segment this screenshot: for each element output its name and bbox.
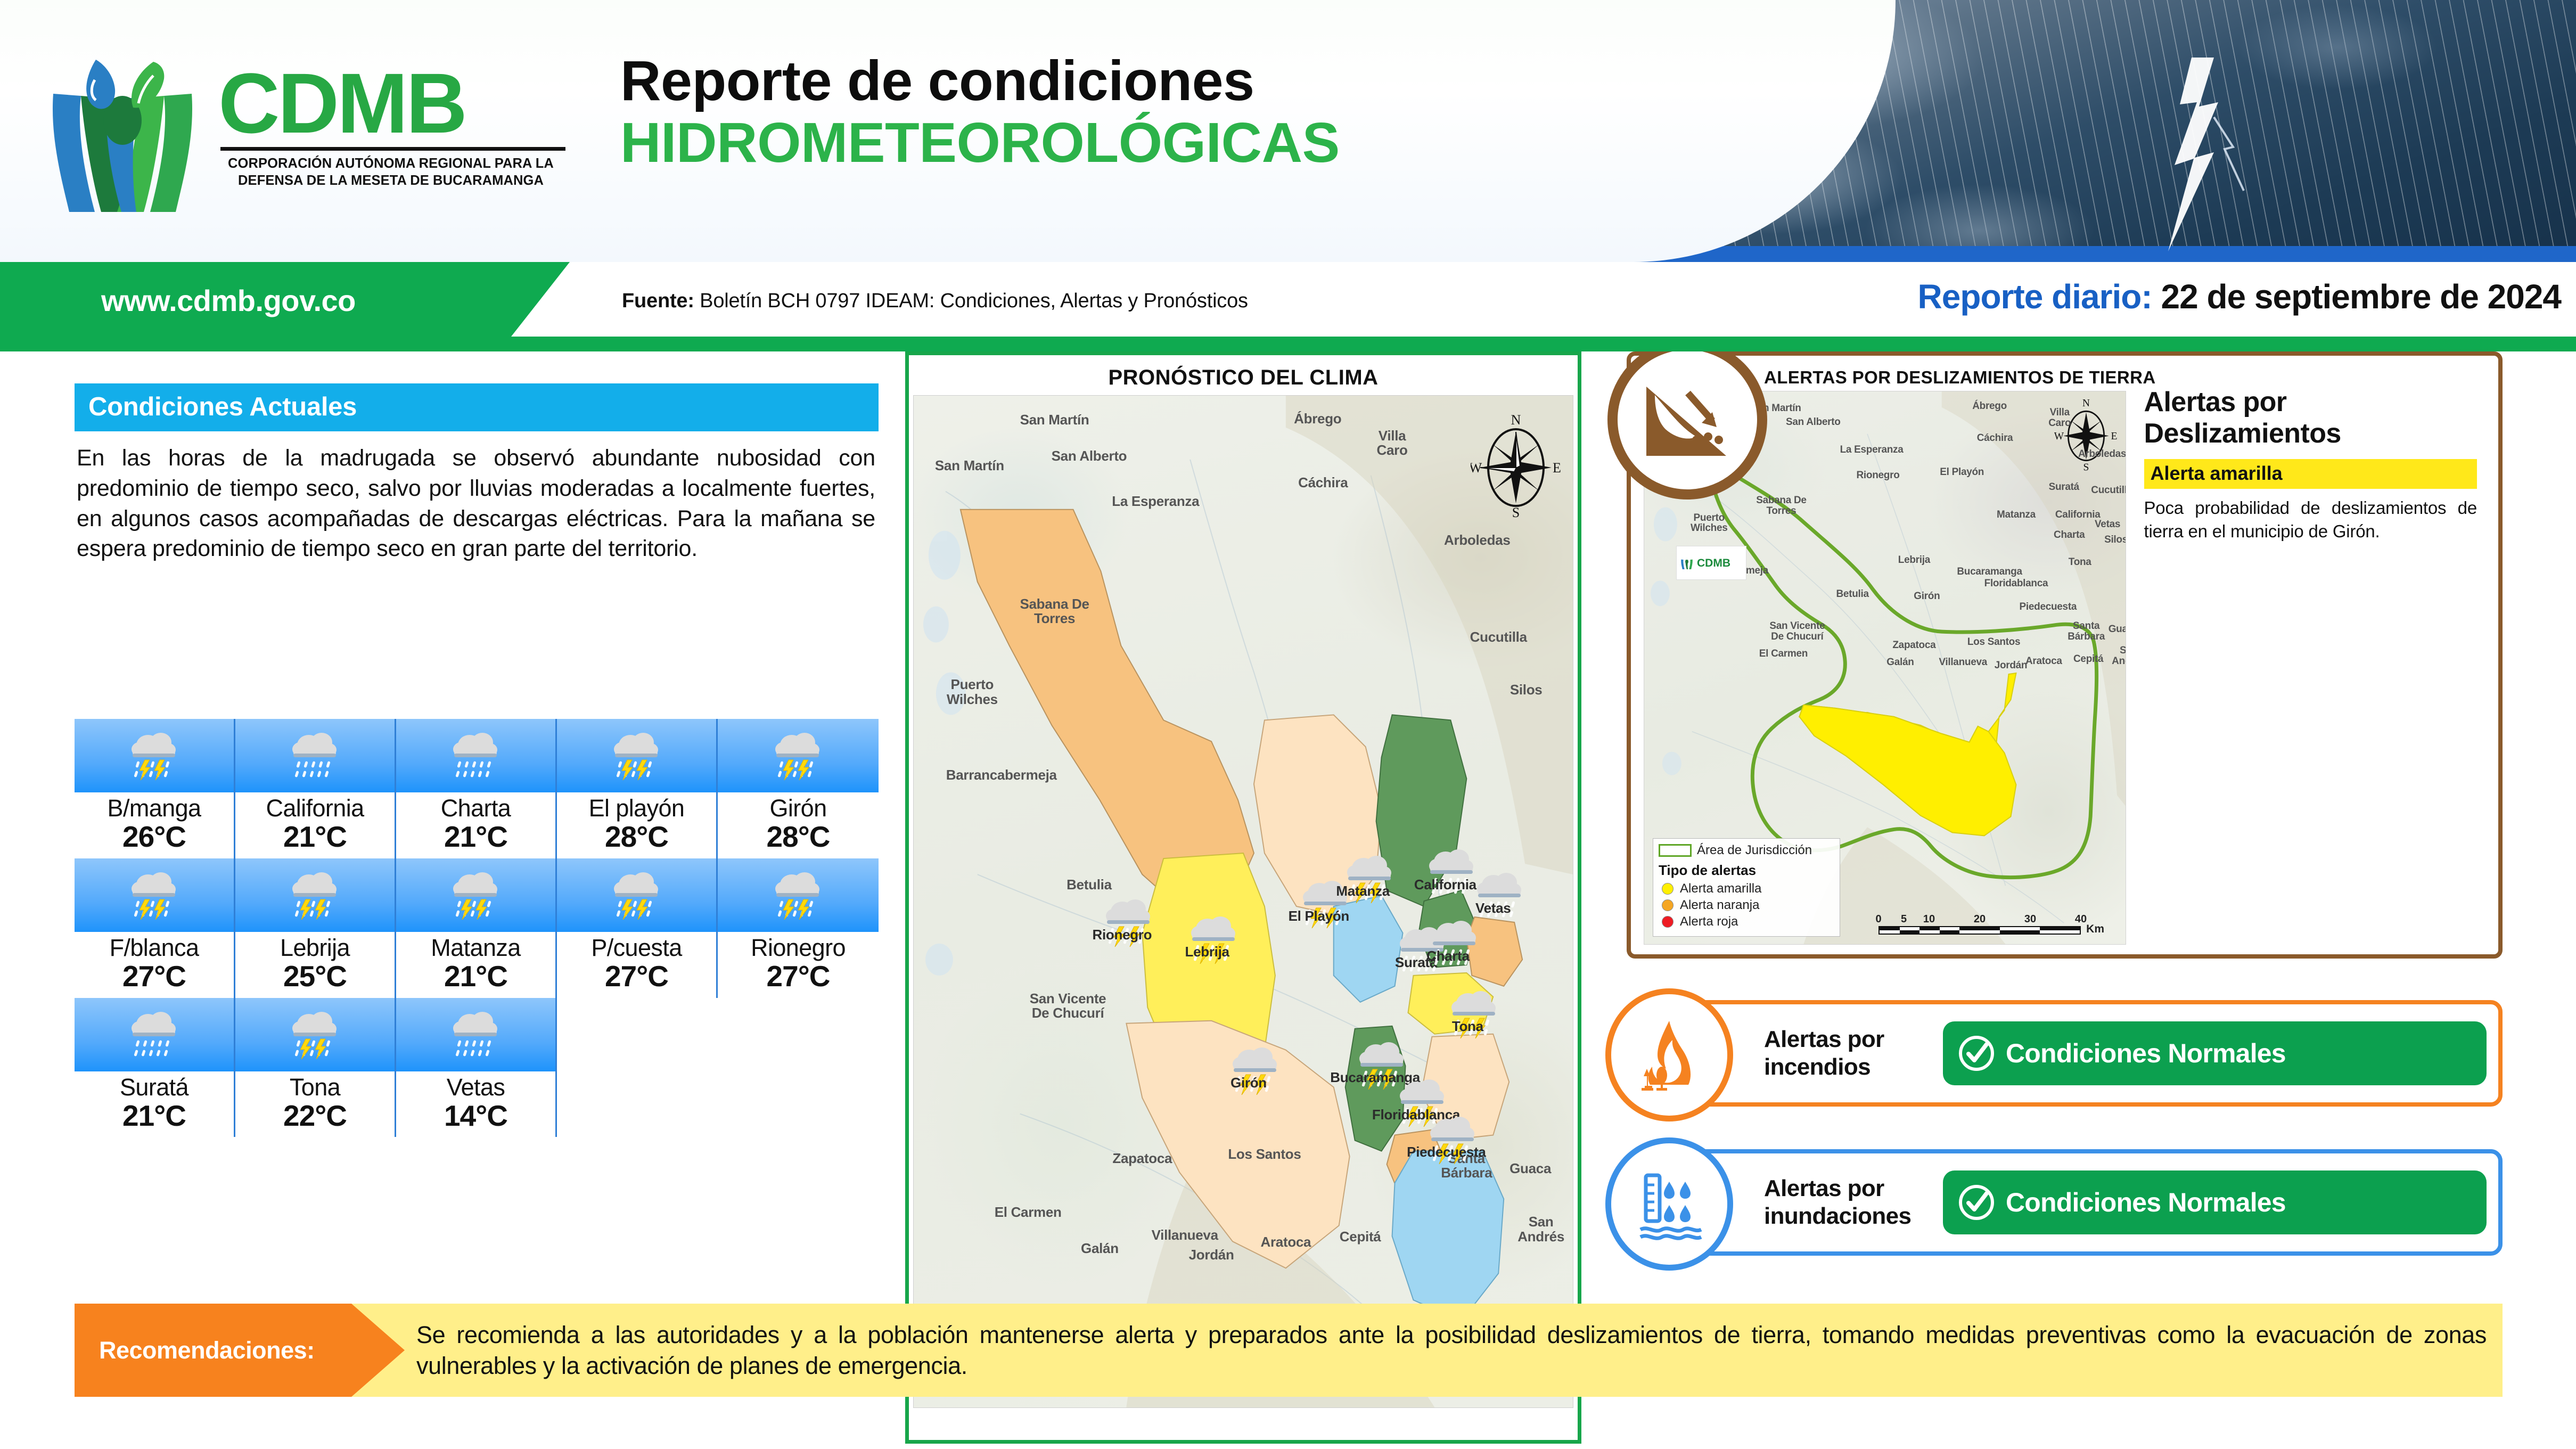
city-temperature: 21°C bbox=[235, 821, 395, 853]
svg-text:W: W bbox=[2054, 431, 2064, 442]
landslide-alert-card: ALERTAS POR DESLIZAMIENTOS DE TIERRA bbox=[1627, 351, 2503, 959]
svg-text:E: E bbox=[2111, 431, 2118, 442]
recommendation-tag: Recomendaciones: bbox=[75, 1304, 405, 1397]
map-context-label: Villa Caro bbox=[1377, 429, 1408, 458]
weather-icon-wrap bbox=[75, 719, 234, 792]
landslide-context-label: Villa Caro bbox=[2048, 407, 2071, 429]
legend-color-dot bbox=[1662, 899, 1673, 911]
landslide-context-label: Cáchira bbox=[1977, 433, 2013, 444]
city-temperature: 28°C bbox=[557, 821, 716, 853]
flood-badge bbox=[1605, 1137, 1733, 1271]
temperature-cell: Lebrija 25°C bbox=[235, 858, 396, 998]
map-municipality-label: Piedecuesta bbox=[1407, 1145, 1486, 1159]
fire-icon bbox=[1634, 1018, 1704, 1092]
temperature-cell-body: El playón 28°C bbox=[557, 792, 716, 858]
landslide-context-label: Charta bbox=[2054, 530, 2085, 541]
landslide-context-label: Vetas bbox=[2095, 519, 2120, 530]
landslide-description: Poca probabilidad de deslizamientos de t… bbox=[2144, 496, 2477, 543]
thunderstorm-icon bbox=[128, 867, 181, 923]
legend-color-dot bbox=[1662, 916, 1673, 928]
weather-icon-wrap bbox=[396, 719, 555, 792]
city-name: Rionegro bbox=[718, 935, 879, 960]
temperature-cell: Girón 28°C bbox=[718, 719, 879, 858]
landslide-heading: Alertas porDeslizamientos bbox=[2144, 387, 2477, 449]
city-temperature: 21°C bbox=[396, 960, 555, 993]
climate-map[interactable]: N S E W San MartínSan MartínSan AlbertoÁ… bbox=[913, 395, 1573, 1408]
landslide-context-label: Villanueva bbox=[1939, 657, 1987, 668]
thunderstorm-icon bbox=[772, 867, 825, 923]
current-conditions-panel: Condiciones Actuales En las horas de la … bbox=[75, 383, 879, 564]
website-url[interactable]: www.cdmb.gov.co bbox=[101, 283, 356, 318]
temperature-cell: Charta 21°C bbox=[396, 719, 557, 858]
landslide-context-label: Galán bbox=[1886, 657, 1914, 668]
legend-item: Alerta naranja bbox=[1662, 898, 1834, 913]
map-context-label: Cepitá bbox=[1340, 1230, 1381, 1244]
city-temperature: 27°C bbox=[557, 960, 716, 993]
cdmb-mark-icon bbox=[1679, 552, 1694, 574]
city-temperature: 14°C bbox=[396, 1100, 555, 1132]
climate-map-title: PRONÓSTICO DEL CLIMA bbox=[913, 359, 1573, 395]
scale-tick: 30 bbox=[2024, 913, 2036, 926]
map-context-label: Arboledas bbox=[1444, 533, 1510, 547]
landslide-map-logo: CDMB bbox=[1676, 546, 1746, 580]
weather-icon-wrap bbox=[235, 858, 395, 932]
temperature-cell-body: Lebrija 25°C bbox=[235, 932, 395, 998]
landslide-context-label: Floridablanca bbox=[1984, 578, 2048, 589]
compass-rose-icon: N S E W bbox=[1471, 412, 1561, 518]
city-temperature: 28°C bbox=[718, 821, 879, 853]
fire-status-text: Condiciones Normales bbox=[2006, 1038, 2286, 1069]
logo-wordmark: CDMB bbox=[218, 63, 570, 144]
flood-icon bbox=[1634, 1167, 1704, 1241]
city-name: Tona bbox=[235, 1075, 395, 1100]
current-conditions-text: En las horas de la madrugada se observó … bbox=[75, 431, 879, 564]
legend-item: Alerta roja bbox=[1662, 914, 1834, 929]
map-context-label: San Martín bbox=[935, 459, 1004, 473]
temperature-cell-body: Tona 22°C bbox=[235, 1071, 395, 1137]
legend-jurisdiction-row: Área de Jurisdicción bbox=[1659, 843, 1834, 858]
svg-text:W: W bbox=[1471, 460, 1482, 476]
rain-icon bbox=[289, 728, 342, 783]
landslide-context-label: La Esperanza bbox=[1840, 445, 1904, 455]
landslide-badge bbox=[1607, 340, 1767, 500]
thunderstorm-icon bbox=[289, 1007, 342, 1062]
source-label: Fuente: bbox=[622, 290, 694, 312]
city-temperature: 26°C bbox=[75, 821, 234, 853]
rain-icon bbox=[449, 1007, 503, 1062]
temperature-cell: California 21°C bbox=[235, 719, 396, 858]
map-context-label: Puerto Wilches bbox=[947, 677, 998, 707]
current-conditions-heading: Condiciones Actuales bbox=[75, 383, 879, 431]
landslide-map-scalebar: 0510203040 Km bbox=[1878, 913, 2081, 935]
page-header: CDMB CORPORACIÓN AUTÓNOMA REGIONAL PARA … bbox=[0, 0, 2576, 262]
fire-alert-bar[interactable]: Alertas porincendios Condiciones Normale… bbox=[1627, 1000, 2503, 1107]
scale-tick: 5 bbox=[1901, 913, 1907, 926]
landslide-context-label: Ábrego bbox=[1972, 401, 2007, 412]
rain-icon bbox=[449, 728, 503, 783]
map-municipality-label: Charta bbox=[1426, 949, 1470, 963]
jurisdiction-label: Área de Jurisdicción bbox=[1697, 843, 1812, 858]
recommendation-text: Se recomienda a las autoridades y a la p… bbox=[405, 1320, 2503, 1381]
landslide-map-logo-text: CDMB bbox=[1697, 558, 1730, 569]
temperature-cell: F/blanca 27°C bbox=[75, 858, 235, 998]
temperature-cell: Suratá 21°C bbox=[75, 998, 235, 1137]
landslide-context-label: Arboledas bbox=[2078, 449, 2126, 460]
landslide-context-label: San Alberto bbox=[1786, 417, 1841, 428]
map-municipality-label: El Playón bbox=[1289, 909, 1349, 923]
temperature-cell: Matanza 21°C bbox=[396, 858, 557, 998]
recommendation-bar: Recomendaciones: Se recomienda a las aut… bbox=[75, 1304, 2503, 1397]
landslide-context-label: Betulia bbox=[1836, 589, 1869, 600]
map-municipality-label: Matanza bbox=[1336, 884, 1389, 898]
temperature-cell-body: Charta 21°C bbox=[396, 792, 555, 858]
jurisdiction-swatch bbox=[1659, 844, 1692, 857]
weather-icon-wrap bbox=[557, 858, 716, 932]
map-municipality-label: Vetas bbox=[1475, 901, 1511, 915]
temperature-cell: Rionegro 27°C bbox=[718, 858, 879, 998]
weather-icon-wrap bbox=[235, 998, 395, 1071]
thunderstorm-icon bbox=[128, 728, 181, 783]
map-context-label: San Alberto bbox=[1052, 449, 1127, 463]
city-temperature: 22°C bbox=[235, 1100, 395, 1132]
city-temperature: 21°C bbox=[396, 821, 555, 853]
lightning-bolt-icon bbox=[2129, 53, 2267, 256]
temperature-cell: P/cuesta 27°C bbox=[557, 858, 718, 998]
logo-subtitle-line-1: CORPORACIÓN AUTÓNOMA REGIONAL PARA LA bbox=[218, 155, 563, 172]
map-municipality-label: Rionegro bbox=[1093, 928, 1152, 942]
landslide-context-label: Piedecuesta bbox=[2020, 602, 2077, 612]
report-title: Reporte de condiciones HIDROMETEOROLÓGIC… bbox=[620, 51, 1340, 173]
city-temperature: 27°C bbox=[75, 960, 234, 993]
temperature-cell: Tona 22°C bbox=[235, 998, 396, 1137]
temperature-grid: B/manga 26°C California 21°C bbox=[75, 719, 879, 1137]
main-content: Condiciones Actuales En las horas de la … bbox=[0, 351, 2576, 1449]
landslide-context-label: Zapatoca bbox=[1892, 640, 1935, 651]
check-circle-icon bbox=[1957, 1034, 1996, 1073]
landslide-icon bbox=[1637, 377, 1738, 462]
landslide-context-label: San Vicente De Chucurí bbox=[1769, 621, 1825, 642]
map-context-label: Guaca bbox=[1509, 1161, 1551, 1176]
fire-badge bbox=[1605, 988, 1733, 1121]
map-context-label: Ábrego bbox=[1294, 412, 1341, 426]
map-municipality-label: California bbox=[1414, 878, 1476, 892]
temperature-cell-body: P/cuesta 27°C bbox=[557, 932, 716, 998]
svg-text:S: S bbox=[1512, 505, 1520, 518]
info-ribbon: www.cdmb.gov.co Fuente: Boletín BCH 0797… bbox=[0, 262, 2576, 351]
map-context-label: Galán bbox=[1081, 1241, 1119, 1256]
city-temperature: 21°C bbox=[75, 1100, 234, 1132]
city-name: Charta bbox=[396, 796, 555, 821]
map-municipality-label: Girón bbox=[1230, 1076, 1267, 1090]
report-date-value: 22 de septiembre de 2024 bbox=[2161, 277, 2561, 316]
temperature-cell-body: F/blanca 27°C bbox=[75, 932, 234, 998]
landslide-context-label: Cucutilla bbox=[2091, 485, 2126, 496]
landslide-context-label: Girón bbox=[1914, 591, 1940, 602]
legend-title: Tipo de alertas bbox=[1659, 862, 1834, 879]
flood-status-pill: Condiciones Normales bbox=[1943, 1170, 2487, 1234]
svg-text:E: E bbox=[1553, 460, 1561, 476]
temperature-cell: El playón 28°C bbox=[557, 719, 718, 858]
scale-tick: 10 bbox=[1923, 913, 1935, 926]
landslide-context-label: Jordán bbox=[1995, 660, 2028, 671]
map-municipality-label: Lebrija bbox=[1185, 945, 1229, 959]
city-name: Girón bbox=[718, 796, 879, 821]
city-name: Lebrija bbox=[235, 935, 395, 960]
temperature-cell-body: Vetas 14°C bbox=[396, 1071, 555, 1137]
landslide-alert-chip: Alerta amarilla bbox=[2144, 459, 2477, 489]
scale-tick: 0 bbox=[1875, 913, 1881, 926]
map-context-label: Zapatoca bbox=[1112, 1151, 1172, 1166]
cdmb-logo: CDMB CORPORACIÓN AUTÓNOMA REGIONAL PARA … bbox=[32, 47, 575, 223]
weather-icon-wrap bbox=[396, 858, 555, 932]
map-context-label: San Martín bbox=[1020, 413, 1089, 427]
flood-alert-bar[interactable]: Alertas porinundaciones Condiciones Norm… bbox=[1627, 1149, 2503, 1256]
weather-icon-wrap bbox=[718, 858, 879, 932]
legend-item-label: Alerta amarilla bbox=[1680, 881, 1761, 896]
city-name: California bbox=[235, 796, 395, 821]
scale-tick: 40 bbox=[2075, 913, 2087, 926]
map-context-label: Barrancabermeja bbox=[946, 768, 1057, 782]
fire-status-pill: Condiciones Normales bbox=[1943, 1021, 2487, 1085]
map-context-label: La Esperanza bbox=[1112, 494, 1199, 509]
landslide-context-label: Santa Bárbara bbox=[2068, 621, 2105, 642]
flood-alert-title: Alertas porinundaciones bbox=[1764, 1175, 1940, 1230]
map-municipality-label: Tona bbox=[1452, 1019, 1483, 1034]
map-context-label: San Andrés bbox=[1517, 1215, 1564, 1244]
weather-icon-wrap bbox=[396, 998, 555, 1071]
temperature-cell: Vetas 14°C bbox=[396, 998, 557, 1137]
svg-text:S: S bbox=[2083, 462, 2089, 471]
report-title-line-2: HIDROMETEOROLÓGICAS bbox=[620, 113, 1340, 173]
fire-alert-title: Alertas porincendios bbox=[1764, 1026, 1940, 1081]
check-circle-icon bbox=[1957, 1183, 1996, 1222]
landslide-context-label: Puerto Wilches bbox=[1691, 513, 1728, 534]
city-name: B/manga bbox=[75, 796, 234, 821]
map-context-label: Cucutilla bbox=[1470, 630, 1527, 644]
landslide-context-label: Los Santos bbox=[1967, 637, 2020, 648]
landslide-context-label: Aratoca bbox=[2025, 656, 2062, 667]
logo-subtitle-line-2: DEFENSA DE LA MESETA DE BUCARAMANGA bbox=[218, 172, 563, 189]
city-temperature: 25°C bbox=[235, 960, 395, 993]
landslide-context-label: Lebrija bbox=[1898, 555, 1930, 566]
city-name: El playón bbox=[557, 796, 716, 821]
city-temperature: 27°C bbox=[718, 960, 879, 993]
landslide-context-label: El Playón bbox=[1940, 467, 1984, 478]
thunderstorm-icon bbox=[772, 728, 825, 783]
map-context-label: Cáchira bbox=[1298, 476, 1348, 490]
map-context-label: San Vicente De Chucurí bbox=[1030, 992, 1106, 1021]
temperature-cell: B/manga 26°C bbox=[75, 719, 235, 858]
map-context-label: Silos bbox=[1510, 683, 1543, 697]
landslide-context-label: Suratá bbox=[2049, 482, 2079, 493]
legend-item-label: Alerta roja bbox=[1680, 914, 1738, 929]
rain-icon bbox=[128, 1007, 181, 1062]
temperature-cell-body: Matanza 21°C bbox=[396, 932, 555, 998]
temperature-cell-body: Girón 28°C bbox=[718, 792, 879, 858]
climate-forecast-card: PRONÓSTICO DEL CLIMA bbox=[905, 351, 1581, 1444]
map-context-label: Betulia bbox=[1067, 878, 1112, 892]
landslide-scale-unit: Km bbox=[2086, 923, 2104, 936]
map-context-label: Sabana De Torres bbox=[1020, 597, 1089, 626]
landslide-context-label: California bbox=[2055, 510, 2101, 520]
landslide-context-label: Matanza bbox=[1997, 510, 2036, 520]
temperature-cell-body: Suratá 21°C bbox=[75, 1071, 234, 1137]
landslide-context-label: El Carmen bbox=[1759, 649, 1808, 659]
legend-item-label: Alerta naranja bbox=[1680, 898, 1759, 913]
weather-icon-wrap bbox=[235, 719, 395, 792]
svg-text:N: N bbox=[1511, 412, 1521, 428]
landslide-context-label: Sabana De Torres bbox=[1756, 495, 1806, 517]
map-context-label: Villanueva bbox=[1152, 1228, 1218, 1242]
weather-icon-wrap bbox=[718, 719, 879, 792]
city-name: Matanza bbox=[396, 935, 555, 960]
landslide-context-label: Rionegro bbox=[1857, 470, 1900, 481]
weather-icon-wrap bbox=[75, 858, 234, 932]
weather-icon-wrap bbox=[75, 998, 234, 1071]
weather-icon-wrap bbox=[557, 719, 716, 792]
landslide-context-label: San Andrés bbox=[2112, 645, 2126, 667]
city-name: F/blanca bbox=[75, 935, 234, 960]
report-date-label: Reporte diario: bbox=[1918, 277, 2152, 316]
cdmb-logo-mark-icon bbox=[32, 52, 213, 217]
thunderstorm-icon bbox=[449, 867, 503, 923]
landslide-legend: Área de Jurisdicción Tipo de alertas Ale… bbox=[1653, 838, 1840, 937]
temperature-cell-body: Rionegro 27°C bbox=[718, 932, 879, 998]
temperature-cell-body: B/manga 26°C bbox=[75, 792, 234, 858]
thunderstorm-icon bbox=[289, 867, 342, 923]
map-context-label: Aratoca bbox=[1261, 1235, 1311, 1249]
source-line: Fuente: Boletín BCH 0797 IDEAM: Condicio… bbox=[622, 290, 1248, 313]
landslide-context-label: Guaca bbox=[2109, 624, 2126, 635]
thunderstorm-icon bbox=[610, 728, 663, 783]
landslide-context-label: Bucaramanga bbox=[1957, 567, 2022, 577]
map-context-label: El Carmen bbox=[995, 1205, 1062, 1219]
report-title-line-1: Reporte de condiciones bbox=[620, 51, 1340, 111]
landslide-text-panel: Alertas porDeslizamientos Alerta amarill… bbox=[2128, 356, 2499, 954]
thunderstorm-icon bbox=[610, 867, 663, 923]
legend-color-dot bbox=[1662, 883, 1673, 895]
map-context-label: Jordán bbox=[1189, 1248, 1234, 1262]
report-date-line: Reporte diario: 22 de septiembre de 2024 bbox=[1918, 277, 2561, 316]
scale-tick: 20 bbox=[1974, 913, 1986, 926]
landslide-context-label: Tona bbox=[2069, 557, 2091, 568]
temperature-cell-body: California 21°C bbox=[235, 792, 395, 858]
city-name: P/cuesta bbox=[557, 935, 716, 960]
landslide-context-label: Cepitá bbox=[2073, 654, 2103, 665]
landslide-context-label: Silos bbox=[2104, 535, 2126, 545]
flood-status-text: Condiciones Normales bbox=[2006, 1187, 2286, 1218]
city-name: Suratá bbox=[75, 1075, 234, 1100]
legend-item: Alerta amarilla bbox=[1662, 881, 1834, 896]
city-name: Vetas bbox=[396, 1075, 555, 1100]
svg-text:N: N bbox=[2082, 398, 2090, 409]
source-text: Boletín BCH 0797 IDEAM: Condiciones, Ale… bbox=[700, 290, 1248, 312]
map-context-label: Los Santos bbox=[1228, 1147, 1301, 1161]
landslide-map-title: ALERTAS POR DESLIZAMIENTOS DE TIERRA bbox=[1764, 367, 2156, 388]
